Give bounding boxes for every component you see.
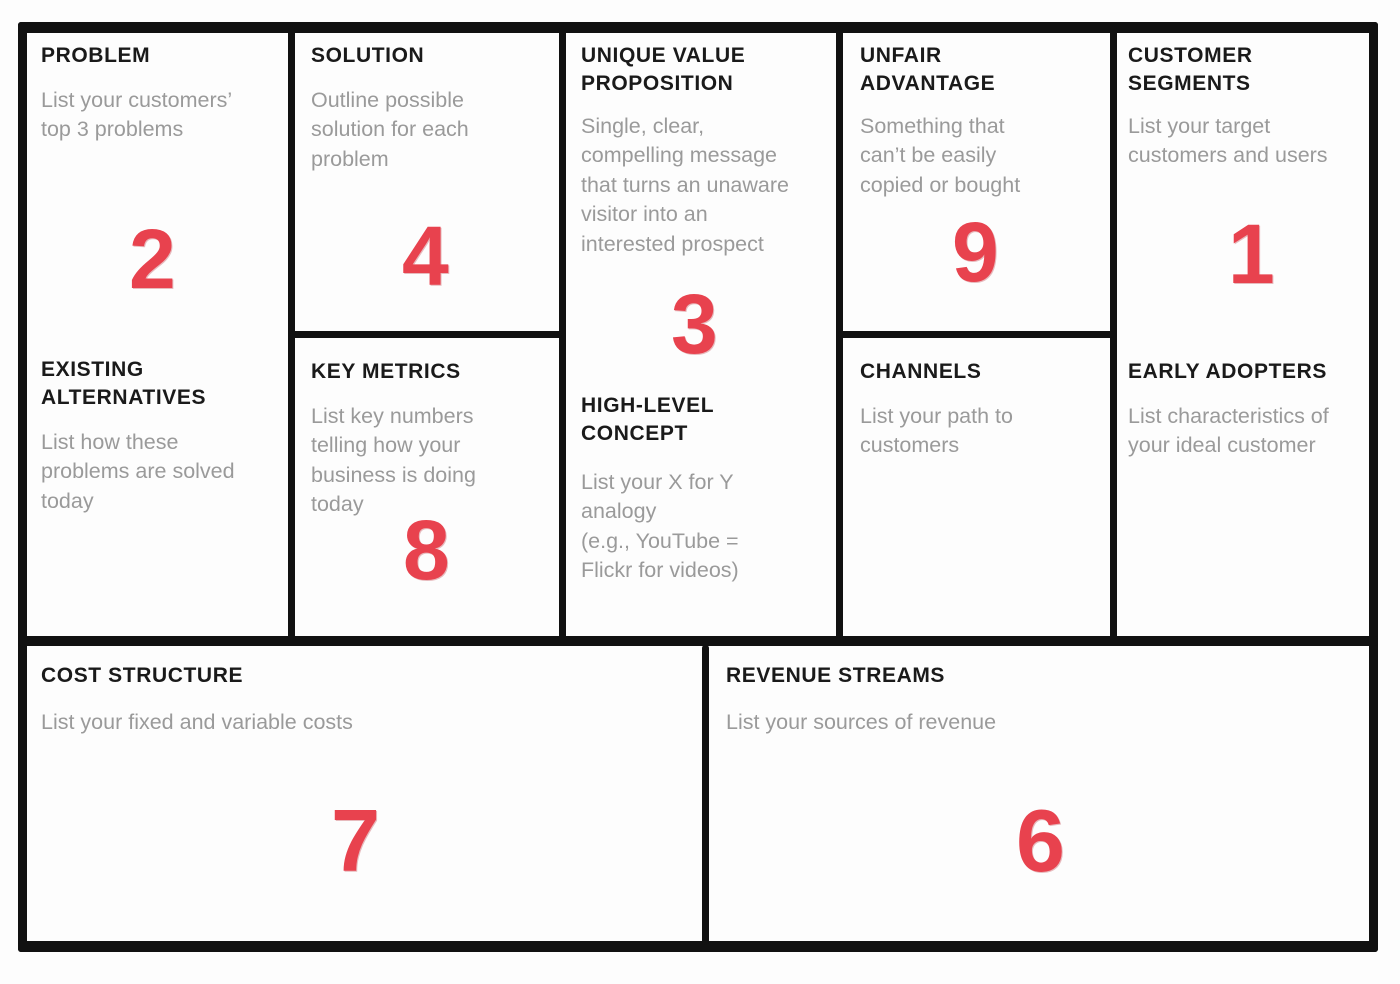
block-key-metrics[interactable]: KEY METRICS List key numbers telling how…: [311, 358, 546, 633]
block-description-cost-structure: List your fixed and variable costs: [41, 708, 681, 737]
block-title-cost-structure: COST STRUCTURE: [41, 662, 681, 690]
section-divider: [18, 636, 1378, 646]
block-description-solution: Outline possible solution for each probl…: [311, 86, 546, 174]
block-title-customer-segments: CUSTOMER SEGMENTS: [1128, 42, 1378, 98]
block-description-channels: List your path to customers: [860, 402, 1105, 461]
block-number-unfair-advantage: 9: [952, 210, 999, 294]
block-description-high-level-concept: List your X for Y analogy (e.g., YouTube…: [581, 468, 833, 586]
block-problem[interactable]: PROBLEM List your customers’ top 3 probl…: [41, 42, 276, 332]
block-number-revenue-streams: 6: [1016, 797, 1065, 885]
block-description-unfair-advantage: Something that can’t be easily copied or…: [860, 112, 1105, 200]
block-revenue-streams[interactable]: REVENUE STREAMS List your sources of rev…: [726, 662, 1366, 937]
row-divider-unfair-channels: [838, 331, 1114, 338]
canvas-top-border: [18, 22, 1378, 33]
block-high-level-concept[interactable]: HIGH-LEVEL CONCEPT List your X for Y ana…: [581, 392, 833, 632]
block-channels[interactable]: CHANNELS List your path to customers: [860, 358, 1105, 633]
block-title-unfair-advantage: UNFAIR ADVANTAGE: [860, 42, 1105, 98]
block-unfair-advantage[interactable]: UNFAIR ADVANTAGE Something that can’t be…: [860, 42, 1105, 322]
row-divider-solution-keymetrics: [290, 331, 562, 338]
block-number-key-metrics: 8: [403, 508, 450, 592]
block-number-solution: 4: [402, 214, 449, 298]
block-number-unique-value-proposition: 3: [671, 282, 718, 366]
block-description-customer-segments: List your target customers and users: [1128, 112, 1378, 171]
block-title-channels: CHANNELS: [860, 358, 1105, 386]
block-description-early-adopters: List characteristics of your ideal custo…: [1128, 402, 1378, 461]
block-customer-segments[interactable]: CUSTOMER SEGMENTS List your target custo…: [1128, 42, 1378, 322]
block-title-early-adopters: EARLY ADOPTERS: [1128, 358, 1378, 386]
block-description-unique-value-proposition: Single, clear, compelling message that t…: [581, 112, 833, 259]
block-description-problem: List your customers’ top 3 problems: [41, 86, 276, 145]
block-title-revenue-streams: REVENUE STREAMS: [726, 662, 1366, 690]
canvas-left-border: [18, 22, 27, 952]
block-title-problem: PROBLEM: [41, 42, 276, 70]
block-cost-structure[interactable]: COST STRUCTURE List your fixed and varia…: [41, 662, 681, 937]
block-title-existing-alternatives: EXISTING ALTERNATIVES: [41, 356, 286, 412]
block-title-high-level-concept: HIGH-LEVEL CONCEPT: [581, 392, 833, 448]
block-solution[interactable]: SOLUTION Outline possible solution for e…: [311, 42, 546, 322]
block-unique-value-proposition[interactable]: UNIQUE VALUE PROPOSITION Single, clear, …: [581, 42, 833, 342]
block-title-key-metrics: KEY METRICS: [311, 358, 546, 386]
block-title-solution: SOLUTION: [311, 42, 546, 70]
block-description-existing-alternatives: List how these problems are solved today: [41, 428, 286, 516]
block-number-problem: 2: [129, 217, 176, 301]
lean-canvas: PROBLEM List your customers’ top 3 probl…: [0, 0, 1400, 984]
column-divider-bottom: [702, 645, 709, 945]
block-description-revenue-streams: List your sources of revenue: [726, 708, 1366, 737]
block-number-cost-structure: 7: [331, 797, 380, 885]
canvas-bottom-border: [18, 941, 1378, 952]
block-existing-alternatives[interactable]: EXISTING ALTERNATIVES List how these pro…: [41, 356, 286, 631]
block-number-customer-segments: 1: [1228, 212, 1275, 296]
block-early-adopters[interactable]: EARLY ADOPTERS List characteristics of y…: [1128, 358, 1378, 633]
block-title-unique-value-proposition: UNIQUE VALUE PROPOSITION: [581, 42, 833, 98]
